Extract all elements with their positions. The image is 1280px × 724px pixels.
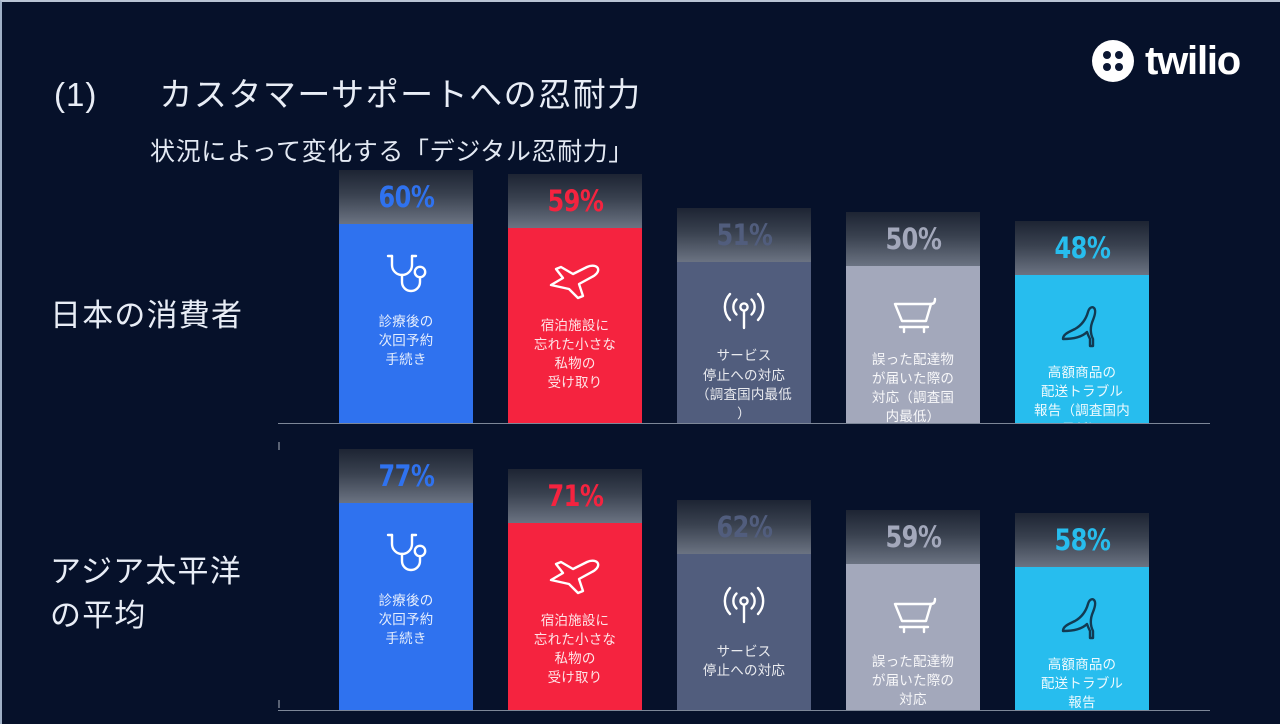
bar-caption-line: 宿泊施設に [534,611,616,630]
bar-caption-line: 診療後の [379,312,434,331]
bar-percent-label: 59% [885,520,941,554]
bar-body: サービス停止への対応 [677,554,811,710]
bar-percent-label: 71% [547,479,603,513]
bar-value-header: 59% [508,174,642,228]
bar-caption-line: サービス [703,642,785,661]
bar-percent-label: 59% [547,184,603,218]
bar-column[interactable]: 77%診療後の次回予約手続き [339,449,473,710]
brand-name: twilio [1145,41,1240,81]
bar-body: 診療後の次回予約手続き [339,224,473,423]
bar-column[interactable]: 59%宿泊施設に忘れた小さな私物の受け取り [508,174,642,423]
row-label-line: 日本の消費者 [50,294,318,338]
bar-body: 誤った配達物が届いた際の対応（調査国内最低） [846,266,980,423]
bar-value-header: 71% [508,469,642,523]
bar-body: 高額商品の配送トラブル報告（調査国内最低） [1015,275,1149,423]
airplane-icon [547,256,603,304]
bar-caption: 診療後の次回予約手続き [372,591,441,648]
signal-icon [717,582,771,630]
bar-caption-line: 対応 [872,690,954,709]
bar-column[interactable]: 58%高額商品の配送トラブル報告 [1015,513,1149,710]
bar-percent-label: 77% [378,459,434,493]
bar-value-header: 58% [1015,513,1149,567]
bar-percent-label: 60% [378,180,434,214]
high-heel-icon [1057,303,1107,351]
bar-caption-line: 私物の [534,649,616,668]
bar-column[interactable]: 71%宿泊施設に忘れた小さな私物の受け取り [508,469,642,710]
bar-column[interactable]: 50%誤った配達物が届いた際の対応（調査国内最低） [846,212,980,423]
bar-caption-line: 配送トラブル [1034,382,1130,401]
bar-body: 診療後の次回予約手続き [339,503,473,710]
bar-caption-line: 報告 [1041,693,1123,710]
row-label-japan: 日本の消費者 [50,294,318,338]
bar-caption-line: 受け取り [534,668,616,687]
shopping-cart-icon [886,294,940,338]
bar-caption-line: 私物の [534,354,616,373]
bar-caption-line: 診療後の [379,591,434,610]
bar-value-header: 51% [677,208,811,262]
bar-percent-label: 58% [1054,523,1110,557]
bar-caption-line: 受け取り [534,373,616,392]
bar-percent-label: 62% [716,510,772,544]
bar-caption-line: 忘れた小さな [534,335,616,354]
stethoscope-icon [381,252,431,300]
bar-caption: 誤った配達物が届いた際の対応 [865,652,961,709]
bar-caption-line: 報告（調査国内 [1034,401,1130,420]
row-label-line: アジア太平洋 [50,550,318,594]
bar-body: 高額商品の配送トラブル報告 [1015,567,1149,710]
bar-caption: 診療後の次回予約手続き [372,312,441,369]
bar-value-header: 62% [677,500,811,554]
bar-caption-line: 誤った配達物 [872,652,954,671]
slide-subtitle: 状況によって変化する「デジタル忍耐力」 [150,132,634,168]
bar-column[interactable]: 59%誤った配達物が届いた際の対応 [846,510,980,710]
bar-body: 宿泊施設に忘れた小さな私物の受け取り [508,228,642,423]
slide-canvas: twilio (1) カスタマーサポートへの忍耐力 状況によって変化する「デジタ… [0,0,1280,724]
bar-caption-line: 次回予約 [379,331,434,350]
bar-body: サービス停止への対応（調査国内最低） [677,262,811,423]
bar-value-header: 59% [846,510,980,564]
axis-tick [278,442,280,450]
bar-caption-line: 配送トラブル [1041,674,1123,693]
bar-caption-line: 手続き [379,350,434,369]
bar-caption-line: が届いた際の [872,671,954,690]
bar-caption-line: 忘れた小さな [534,630,616,649]
bar-caption-line: 宿泊施設に [534,316,616,335]
page-title: カスタマーサポートへの忍耐力 [159,68,641,116]
row-label-apac: アジア太平洋の平均 [50,550,318,638]
twilio-logo: twilio [1092,40,1240,82]
bar-body: 誤った配達物が届いた際の対応 [846,564,980,710]
bar-caption: 宿泊施設に忘れた小さな私物の受け取り [527,316,623,393]
bar-value-header: 77% [339,449,473,503]
bar-body: 宿泊施設に忘れた小さな私物の受け取り [508,523,642,710]
bar-value-header: 48% [1015,221,1149,275]
bar-caption-line: サービス [696,346,792,365]
bar-caption: 高額商品の配送トラブル報告 [1034,655,1130,710]
signal-icon [717,290,771,334]
bar-percent-label: 48% [1054,231,1110,265]
bar-caption-line: 次回予約 [379,610,434,629]
bar-caption: 誤った配達物が届いた際の対応（調査国内最低） [865,350,961,423]
shopping-cart-icon [886,592,940,640]
bar-caption-line: 停止への対応 [696,366,792,385]
bar-caption-line: 内最低） [872,407,954,423]
title-index: (1) [54,76,97,114]
bar-caption-line: ） [696,404,792,423]
bar-caption-line: が届いた際の [872,369,954,388]
bar-percent-label: 51% [716,218,772,252]
bar-caption: 宿泊施設に忘れた小さな私物の受け取り [527,611,623,688]
bar-column[interactable]: 62%サービス停止への対応 [677,500,811,710]
bar-caption: 高額商品の配送トラブル報告（調査国内最低） [1027,363,1137,423]
row-baseline [278,423,1210,424]
bar-percent-label: 50% [885,222,941,256]
bar-caption-line: 停止への対応 [703,661,785,680]
airplane-icon [547,551,603,599]
bar-value-header: 50% [846,212,980,266]
bar-caption-line: 最低） [1034,420,1130,423]
bar-caption-line: （調査国内最低 [696,385,792,404]
bar-column[interactable]: 48%高額商品の配送トラブル報告（調査国内最低） [1015,221,1149,423]
bar-caption: サービス停止への対応（調査国内最低） [689,346,799,423]
bar-value-header: 60% [339,170,473,224]
bar-caption-line: 高額商品の [1034,363,1130,382]
stethoscope-icon [381,531,431,579]
row-label-line: の平均 [50,594,318,638]
slide-title: (1) カスタマーサポートへの忍耐力 [54,68,642,116]
bar-caption-line: 高額商品の [1041,655,1123,674]
bar-caption-line: 対応（調査国 [872,388,954,407]
bar-caption: サービス停止への対応 [696,642,792,680]
bar-column[interactable]: 60%診療後の次回予約手続き [339,170,473,423]
bar-caption-line: 誤った配達物 [872,350,954,369]
axis-tick [278,700,280,708]
bar-column[interactable]: 51%サービス停止への対応（調査国内最低） [677,208,811,423]
bar-caption-line: 手続き [379,629,434,648]
row-baseline [278,710,1210,711]
twilio-dots-logo-icon [1092,40,1134,82]
high-heel-icon [1057,595,1107,643]
